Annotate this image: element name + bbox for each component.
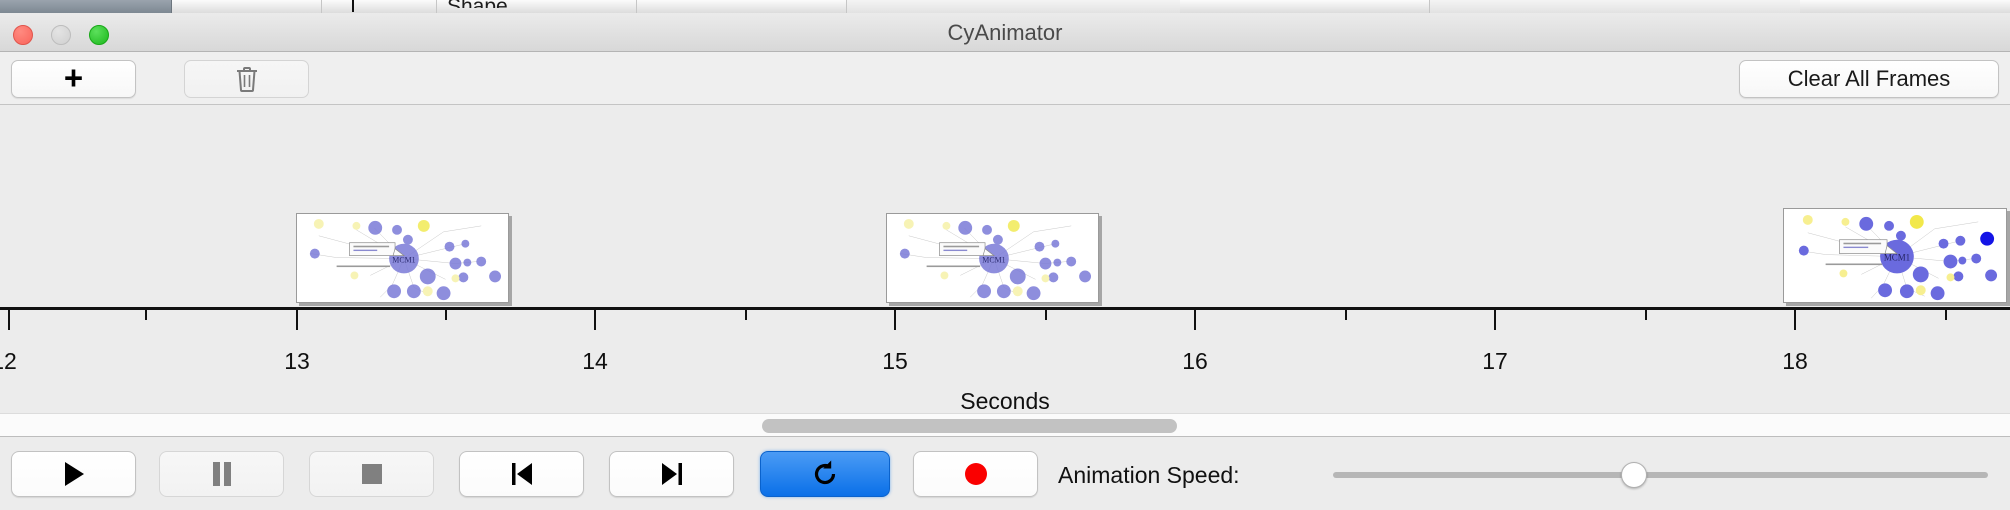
player-controls: Animation Speed: (0, 438, 2010, 510)
hub-node-label: MCM1 (1884, 253, 1910, 263)
axis-tick-minor (1645, 307, 1647, 320)
axis-tick-minor (1945, 307, 1947, 320)
background-window: Shape (0, 0, 2010, 13)
play-icon (61, 460, 87, 488)
animation-speed-slider-thumb[interactable] (1621, 462, 1647, 488)
axis-tick-label: 13 (252, 348, 342, 375)
background-window-segment (172, 0, 322, 13)
skip-back-icon (509, 460, 535, 488)
scrollbar-thumb[interactable] (762, 419, 1177, 433)
loop-icon (810, 459, 840, 489)
animation-speed-slider[interactable] (1333, 472, 1988, 478)
background-window-tick (352, 0, 354, 12)
axis-tick-major (8, 307, 10, 330)
skip-forward-icon (659, 460, 685, 488)
timeline-scrollbar[interactable] (0, 413, 2010, 437)
axis-tick-minor (1345, 307, 1347, 320)
keyframe-thumbnail[interactable]: MCM1 (296, 213, 509, 303)
trash-icon (235, 65, 259, 93)
axis-tick-label: 12 (0, 348, 49, 375)
axis-tick-label: 18 (1750, 348, 1840, 375)
axis-tick-label: 15 (850, 348, 940, 375)
pause-icon (210, 460, 234, 488)
axis-tick-major (296, 307, 298, 330)
axis-title: Seconds (0, 388, 2010, 413)
record-icon (963, 461, 989, 487)
axis-tick-minor (1045, 307, 1047, 320)
axis-tick-minor (745, 307, 747, 320)
background-window-segment (1180, 0, 1430, 13)
timeline-axis-line (0, 307, 2010, 310)
window-title: CyAnimator (0, 13, 2010, 52)
hub-node-label: MCM1 (982, 256, 1005, 265)
background-window-segment (637, 0, 847, 13)
clear-all-frames-label: Clear All Frames (1788, 66, 1951, 92)
background-window-segment (1800, 0, 2010, 13)
toolbar: + Clear All Frames (0, 52, 2010, 105)
network-thumbnail-image: MCM1 (887, 214, 1098, 303)
loop-button[interactable] (760, 451, 890, 497)
pause-button[interactable] (159, 451, 284, 497)
axis-tick-major (894, 307, 896, 330)
axis-tick-major (1494, 307, 1496, 330)
delete-frame-button[interactable] (184, 60, 309, 98)
axis-tick-minor (145, 307, 147, 320)
network-thumbnail-image: MCM1 (1784, 209, 2006, 303)
title-bar[interactable]: CyAnimator (0, 13, 2010, 52)
axis-tick-label: 16 (1150, 348, 1240, 375)
stop-icon (360, 462, 384, 486)
axis-tick-major (594, 307, 596, 330)
play-button[interactable] (11, 451, 136, 497)
axis-tick-minor (445, 307, 447, 320)
add-frame-button[interactable]: + (11, 60, 136, 98)
axis-tick-major (1794, 307, 1796, 330)
stop-button[interactable] (309, 451, 434, 497)
timeline-panel[interactable]: MCM1 (0, 105, 2010, 413)
skip-end-button[interactable] (609, 451, 734, 497)
skip-start-button[interactable] (459, 451, 584, 497)
animation-speed-label: Animation Speed: (1058, 462, 1240, 489)
background-window-segment (0, 0, 172, 13)
axis-tick-label: 14 (550, 348, 640, 375)
plus-icon: + (64, 61, 83, 94)
cyanimator-window: Shape CyAnimator + Clear All Frames (0, 0, 2010, 510)
keyframe-thumbnail[interactable]: MCM1 (886, 213, 1099, 303)
hub-node-label: MCM1 (392, 256, 415, 265)
keyframe-thumbnail[interactable]: MCM1 (1783, 208, 2007, 303)
background-window-label: Shape (447, 0, 508, 8)
record-button[interactable] (913, 451, 1038, 497)
network-thumbnail-image: MCM1 (297, 214, 508, 303)
axis-tick-label: 17 (1450, 348, 1540, 375)
background-window-segment (322, 0, 437, 13)
axis-tick-major (1194, 307, 1196, 330)
clear-all-frames-button[interactable]: Clear All Frames (1739, 60, 1999, 98)
